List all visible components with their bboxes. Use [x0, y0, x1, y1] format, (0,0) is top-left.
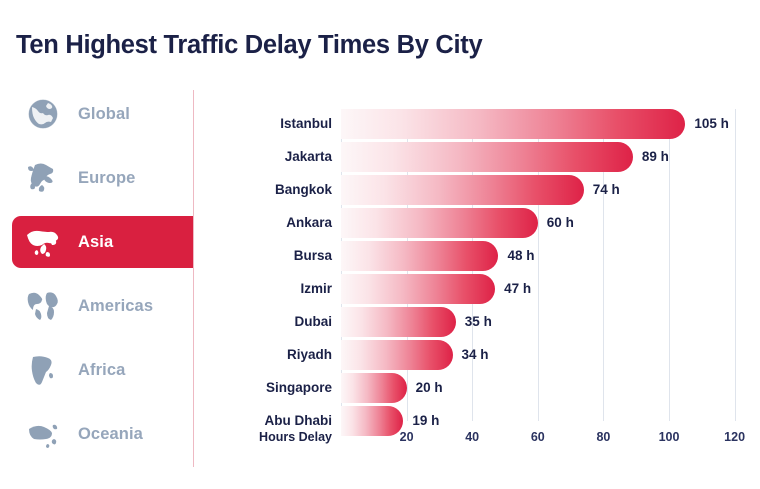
bar-row[interactable]: Bursa48 h [341, 241, 741, 271]
bar-row[interactable]: Bangkok74 h [341, 175, 741, 205]
sidebar-item-europe[interactable]: Europe [12, 152, 192, 204]
oceania-map-icon [24, 415, 62, 453]
sidebar-item-americas[interactable]: Americas [12, 280, 192, 332]
bar[interactable] [341, 142, 633, 172]
bar-value-label: 48 h [507, 241, 534, 271]
bar[interactable] [341, 274, 495, 304]
bar-value-label: 60 h [547, 208, 574, 238]
infographic-root: Ten Highest Traffic Delay Times By City … [0, 0, 760, 489]
bar[interactable] [341, 175, 584, 205]
sidebar-divider [193, 90, 194, 467]
bar-row[interactable]: Dubai35 h [341, 307, 741, 337]
bar-value-label: 74 h [593, 175, 620, 205]
sidebar-item-asia[interactable]: Asia [12, 216, 193, 268]
sidebar-item-oceania[interactable]: Oceania [12, 408, 192, 460]
bar-row[interactable]: Jakarta89 h [341, 142, 741, 172]
bar-row[interactable]: Izmir47 h [341, 274, 741, 304]
sidebar-item-label: Africa [78, 361, 125, 380]
bar-value-label: 35 h [465, 307, 492, 337]
bar-category-label: Izmir [300, 274, 332, 304]
plot-area: Istanbul105 hJakarta89 hBangkok74 hAnkar… [341, 109, 741, 414]
sidebar-item-label: Europe [78, 169, 135, 188]
bar-chart: Istanbul105 hJakarta89 hBangkok74 hAnkar… [236, 100, 756, 455]
region-sidebar: Global Europe [0, 88, 195, 468]
bar-value-label: 105 h [694, 109, 729, 139]
bar-row[interactable]: Riyadh34 h [341, 340, 741, 370]
sidebar-item-global[interactable]: Global [12, 88, 192, 140]
x-axis: Hours Delay 20406080100120 [341, 430, 741, 460]
bar[interactable] [341, 340, 453, 370]
x-axis-title: Hours Delay [259, 430, 332, 444]
bar-category-label: Riyadh [287, 340, 332, 370]
x-axis-tick-label: 40 [465, 430, 479, 444]
page-title: Ten Highest Traffic Delay Times By City [16, 31, 482, 60]
bar[interactable] [341, 307, 456, 337]
sidebar-item-africa[interactable]: Africa [12, 344, 192, 396]
bar-category-label: Bursa [294, 241, 332, 271]
americas-map-icon [24, 287, 62, 325]
bar-category-label: Bangkok [275, 175, 332, 205]
x-axis-tick-label: 60 [531, 430, 545, 444]
sidebar-item-label: Asia [78, 233, 113, 252]
bar[interactable] [341, 109, 685, 139]
bar[interactable] [341, 208, 538, 238]
africa-map-icon [24, 351, 62, 389]
bar[interactable] [341, 373, 407, 403]
sidebar-item-label: Global [78, 105, 130, 124]
bar-category-label: Ankara [286, 208, 332, 238]
asia-map-icon [24, 223, 62, 261]
europe-map-icon [24, 159, 62, 197]
bar-category-label: Jakarta [285, 142, 332, 172]
bar-category-label: Singapore [266, 373, 332, 403]
bar-value-label: 47 h [504, 274, 531, 304]
bar[interactable] [341, 241, 498, 271]
x-axis-tick-label: 120 [724, 430, 745, 444]
bar-category-label: Dubai [294, 307, 332, 337]
bar-row[interactable]: Singapore20 h [341, 373, 741, 403]
x-axis-tick-label: 100 [659, 430, 680, 444]
x-axis-tick-label: 80 [596, 430, 610, 444]
sidebar-item-label: Oceania [78, 425, 143, 444]
bar-category-label: Istanbul [280, 109, 332, 139]
bar-value-label: 34 h [462, 340, 489, 370]
globe-icon [24, 95, 62, 133]
bar-value-label: 89 h [642, 142, 669, 172]
bar-row[interactable]: Istanbul105 h [341, 109, 741, 139]
x-axis-tick-label: 20 [400, 430, 414, 444]
bar-value-label: 20 h [416, 373, 443, 403]
bar-row[interactable]: Ankara60 h [341, 208, 741, 238]
sidebar-item-label: Americas [78, 297, 153, 316]
